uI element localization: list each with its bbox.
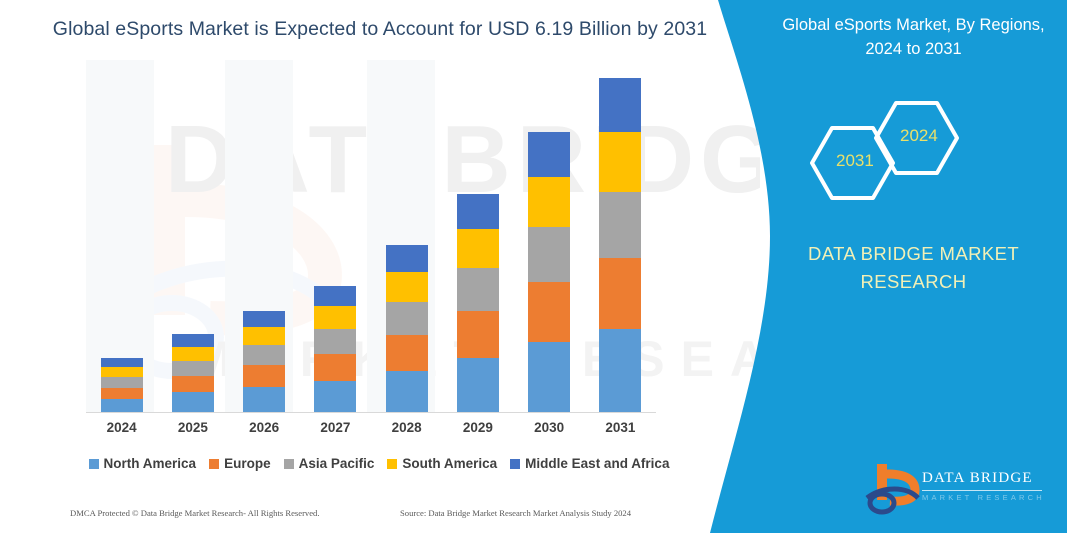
- bar-column-2026: [229, 60, 300, 412]
- stacked-bar: [386, 245, 428, 412]
- bar-segment: [528, 177, 570, 227]
- bar-column-2028: [371, 60, 442, 412]
- bar-segment: [172, 376, 214, 392]
- x-tick-2030: 2030: [514, 420, 585, 435]
- bar-segment: [599, 132, 641, 192]
- legend-item[interactable]: Middle East and Africa: [510, 456, 669, 471]
- bar-segment: [243, 365, 285, 387]
- brand-panel-title: Global eSports Market, By Regions, 2024 …: [760, 14, 1067, 62]
- x-axis-line: [86, 412, 656, 413]
- bar-series-group: [86, 60, 656, 412]
- chart-panel: DATABRIDGE MARKET RESEARCH Global eSport…: [0, 0, 760, 533]
- stacked-bar: [101, 358, 143, 412]
- x-tick-2028: 2028: [371, 420, 442, 435]
- bar-segment: [101, 367, 143, 377]
- legend-label: South America: [402, 456, 497, 471]
- x-tick-2024: 2024: [86, 420, 157, 435]
- x-axis-tick-labels: 20242025202620272028202920302031: [86, 420, 656, 435]
- brand-logo-subtitle: MARKET RESEARCH: [922, 493, 1045, 502]
- bar-segment: [386, 371, 428, 412]
- stacked-bar: [172, 334, 214, 412]
- brand-logo-divider: [922, 490, 1042, 491]
- bar-segment: [599, 192, 641, 258]
- hexagon-2024-label: 2024: [900, 126, 938, 146]
- bar-segment: [172, 347, 214, 361]
- legend-swatch-icon: [387, 459, 397, 469]
- bar-segment: [314, 354, 356, 381]
- brand-name: DATA BRIDGE MARKET RESEARCH: [760, 240, 1067, 296]
- stacked-bar: [528, 132, 570, 412]
- x-tick-2026: 2026: [229, 420, 300, 435]
- x-tick-2025: 2025: [157, 420, 228, 435]
- legend-label: Europe: [224, 456, 271, 471]
- bar-segment: [457, 268, 499, 311]
- legend-label: Middle East and Africa: [525, 456, 669, 471]
- legend-item[interactable]: Asia Pacific: [284, 456, 375, 471]
- bar-segment: [528, 227, 570, 282]
- bar-column-2025: [157, 60, 228, 412]
- bar-segment: [314, 286, 356, 307]
- legend-label: Asia Pacific: [299, 456, 375, 471]
- bar-column-2024: [86, 60, 157, 412]
- bar-segment: [528, 282, 570, 342]
- bar-segment: [243, 311, 285, 327]
- bar-segment: [243, 327, 285, 345]
- legend-item[interactable]: South America: [387, 456, 497, 471]
- bar-segment: [101, 377, 143, 388]
- brand-logo-title: DATA BRIDGE: [922, 470, 1033, 487]
- footer-source: Source: Data Bridge Market Research Mark…: [400, 508, 631, 518]
- legend-swatch-icon: [284, 459, 294, 469]
- bar-segment: [314, 329, 356, 354]
- bar-segment: [457, 194, 499, 229]
- bar-segment: [243, 345, 285, 365]
- legend-swatch-icon: [209, 459, 219, 469]
- bar-segment: [243, 387, 285, 412]
- bar-segment: [386, 245, 428, 272]
- stacked-bar: [314, 286, 356, 412]
- x-tick-2031: 2031: [585, 420, 656, 435]
- chart-legend: North AmericaEuropeAsia PacificSouth Ame…: [86, 456, 672, 471]
- bar-segment: [101, 399, 143, 412]
- legend-label: North America: [104, 456, 197, 471]
- brand-panel-content: Global eSports Market, By Regions, 2024 …: [760, 0, 1067, 533]
- bar-segment: [386, 302, 428, 335]
- bar-segment: [172, 361, 214, 376]
- bar-column-2031: [585, 60, 656, 412]
- bar-segment: [314, 381, 356, 412]
- x-tick-2027: 2027: [300, 420, 371, 435]
- legend-swatch-icon: [510, 459, 520, 469]
- bar-segment: [599, 78, 641, 132]
- bar-segment: [386, 335, 428, 371]
- legend-swatch-icon: [89, 459, 99, 469]
- bar-segment: [457, 311, 499, 358]
- hexagon-2031-label: 2031: [836, 151, 874, 171]
- bar-segment: [172, 334, 214, 347]
- bar-segment: [101, 388, 143, 400]
- bar-column-2027: [300, 60, 371, 412]
- bar-segment: [457, 229, 499, 268]
- hexagon-group: 2024 2031: [804, 88, 1034, 213]
- bar-segment: [172, 392, 214, 412]
- stacked-bar: [243, 311, 285, 412]
- bar-segment: [386, 272, 428, 302]
- bar-segment: [457, 358, 499, 412]
- bar-column-2029: [442, 60, 513, 412]
- bar-segment: [101, 358, 143, 367]
- bar-column-2030: [514, 60, 585, 412]
- stacked-bar: [599, 78, 641, 412]
- page-title: Global eSports Market is Expected to Acc…: [0, 18, 760, 41]
- data-bridge-logo-icon: [865, 460, 920, 516]
- stacked-bar: [457, 194, 499, 412]
- legend-item[interactable]: North America: [89, 456, 197, 471]
- bar-segment: [599, 329, 641, 412]
- legend-item[interactable]: Europe: [209, 456, 271, 471]
- footer-copyright: DMCA Protected © Data Bridge Market Rese…: [70, 508, 320, 518]
- bar-segment: [528, 132, 570, 177]
- x-tick-2029: 2029: [442, 420, 513, 435]
- bar-segment: [314, 306, 356, 329]
- brand-logo: DATA BRIDGE MARKET RESEARCH: [865, 460, 1055, 518]
- bar-segment: [599, 258, 641, 329]
- bar-segment: [528, 342, 570, 412]
